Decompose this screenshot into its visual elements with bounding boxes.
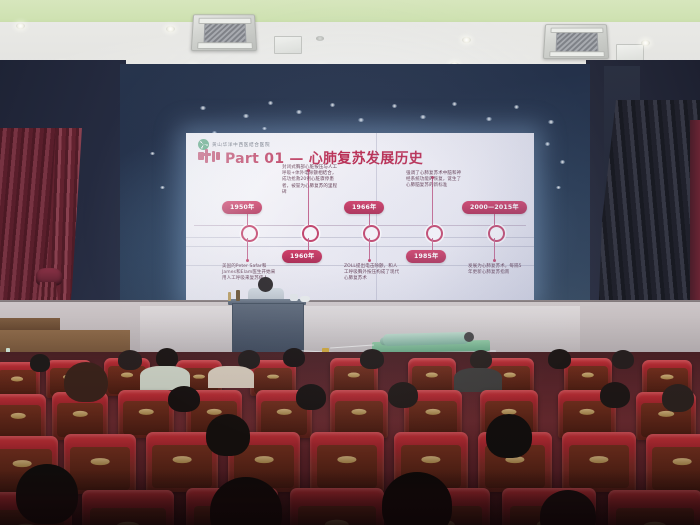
desk-bottle-2 xyxy=(236,290,240,301)
presentation-slide: 黄山华洋中西医结合医院 Part 01 — 心肺复苏发展历史 xyxy=(186,133,534,302)
timeline-pill-2000-2015[interactable]: 2000—2015年 xyxy=(462,201,527,214)
audience-head xyxy=(470,350,492,369)
backdrop-sparkle xyxy=(560,160,565,164)
backdrop-sparkle xyxy=(200,106,206,110)
timeline-node-4 xyxy=(426,225,443,242)
audience-head xyxy=(283,348,305,367)
audience-head xyxy=(548,349,571,369)
recessed-downlight-icon xyxy=(166,26,175,32)
backdrop-sparkle xyxy=(556,186,561,189)
backdrop-sparkle xyxy=(330,103,335,107)
cassette-air-conditioner-icon xyxy=(191,14,257,51)
note-stem-1966 xyxy=(369,238,370,260)
note-stem-2000 xyxy=(494,238,495,260)
audience-head xyxy=(662,384,694,412)
backdrop-sparkle xyxy=(262,127,267,130)
timeline-note-1985: 强调了心肺复苏术中脑和神经系统功能的恢复，诞生了心肺脑复苏的新标准 xyxy=(406,171,462,190)
timeline-node-5 xyxy=(488,225,505,242)
recessed-downlight-icon xyxy=(462,37,471,43)
note-dot-1966 xyxy=(368,259,371,262)
audience-head xyxy=(30,354,50,372)
seat[interactable] xyxy=(82,490,174,525)
timeline-node-1 xyxy=(241,225,258,242)
seat[interactable] xyxy=(608,490,700,525)
seat[interactable] xyxy=(0,394,46,442)
timeline-stem-3 xyxy=(369,214,370,226)
backdrop-sparkle xyxy=(358,118,364,122)
timeline-note-2000-2015: 发展为心肺复苏术，每隔5年更新心肺复苏指南 xyxy=(468,264,524,276)
backdrop-sparkle xyxy=(545,142,550,146)
hospital-name: 黄山华洋中西医结合医院 xyxy=(212,142,270,148)
projection-screen-surface: 黄山华洋中西医结合医院 Part 01 — 心肺复苏发展历史 xyxy=(186,133,534,302)
smoke-detector-icon xyxy=(316,36,324,41)
backdrop-sparkle xyxy=(296,110,302,114)
cpr-training-manikin xyxy=(383,332,469,346)
slide-guide-rule-2 xyxy=(186,237,534,238)
seat[interactable] xyxy=(290,488,384,525)
backdrop-sparkle xyxy=(268,101,273,105)
timeline-stem-4 xyxy=(432,238,433,250)
timeline-stem-2 xyxy=(308,238,309,250)
backdrop-sparkle xyxy=(452,102,457,106)
seat[interactable] xyxy=(118,390,174,438)
slide-heading: 心肺复苏发展历史 xyxy=(309,152,423,166)
backdrop-sparkle xyxy=(486,117,492,121)
audience-head-long-hair xyxy=(64,362,108,402)
desk-bottle-1 xyxy=(228,292,231,301)
note-dot-1950 xyxy=(246,259,249,262)
slide-part-label: Part 01 xyxy=(225,152,284,166)
backdrop-sparkle xyxy=(514,105,519,109)
audience-head xyxy=(388,382,418,408)
cassette-air-conditioner-icon-2 xyxy=(543,24,609,59)
manikin-head xyxy=(464,332,474,342)
audience-shoulders xyxy=(454,368,502,392)
seat[interactable] xyxy=(646,434,700,494)
seat[interactable] xyxy=(330,390,388,438)
seat[interactable] xyxy=(310,432,384,492)
audience-head xyxy=(206,414,250,456)
audience-head xyxy=(612,350,634,369)
audience-head xyxy=(600,382,630,408)
audience-head xyxy=(296,384,326,410)
ceiling-vent-icon xyxy=(274,36,302,54)
backdrop-sparkle xyxy=(392,104,397,108)
slide-title: Part 01 — 心肺复苏发展历史 xyxy=(198,149,423,166)
backdrop-sparkle xyxy=(160,186,165,189)
ac-vane-bottom xyxy=(197,43,253,49)
desk-object xyxy=(290,294,298,301)
timeline-stem-5 xyxy=(494,214,495,226)
backdrop-sparkle xyxy=(548,120,554,124)
audience-head xyxy=(118,350,142,370)
timeline-node-2 xyxy=(302,225,319,242)
backdrop-sparkle xyxy=(420,115,426,119)
slide-guide-rule-3 xyxy=(186,246,534,247)
timeline-note-1966: ZOLL提出电击除颤，和人工呼吸胸外按压构成了现代心肺复苏术 xyxy=(344,264,400,283)
backdrop-sparkle xyxy=(150,152,155,155)
ac-vane-top xyxy=(550,28,603,34)
ac-grille xyxy=(556,32,599,52)
timeline-stem-1 xyxy=(247,214,248,226)
audience-head xyxy=(486,414,532,458)
timeline-pill-1960[interactable]: 1960年 xyxy=(282,250,322,263)
recessed-downlight-icon xyxy=(641,40,650,46)
auditorium-scene: 黄山华洋中西医结合医院 Part 01 — 心肺复苏发展历史 xyxy=(0,0,700,525)
ac-vane-top xyxy=(198,18,251,24)
projection-screen: 黄山华洋中西医结合医院 Part 01 — 心肺复苏发展历史 xyxy=(186,133,534,302)
cross-pillar-icon xyxy=(198,149,220,163)
recessed-downlight-icon xyxy=(16,23,25,29)
desk-object-2 xyxy=(300,296,310,302)
timeline-pill-1950[interactable]: 1950年 xyxy=(222,201,262,214)
audience-shoulders xyxy=(208,366,254,388)
note-stem-1950 xyxy=(247,238,248,260)
ac-grille xyxy=(204,22,247,43)
audience-head xyxy=(16,464,78,524)
audience-seating xyxy=(0,352,700,525)
audience-head xyxy=(156,348,178,368)
timeline-node-3 xyxy=(363,225,380,242)
audience-head xyxy=(168,386,200,412)
timeline-pill-1985[interactable]: 1985年 xyxy=(406,250,446,263)
backdrop-sparkle xyxy=(243,114,249,118)
slide-title-dash: — xyxy=(289,152,303,166)
timeline-pill-1966[interactable]: 1966年 xyxy=(344,201,384,214)
timeline-note-1960: 封闭式胸部心脏按压与人工呼吸+体外电除颤相结合，成功抢救20例心脏骤停患者，被誉… xyxy=(282,165,338,196)
note-dot-2000 xyxy=(493,259,496,262)
ac-vane-bottom xyxy=(549,51,605,57)
presenter-head xyxy=(258,277,273,292)
seat[interactable] xyxy=(562,432,636,492)
audience-head xyxy=(360,349,384,369)
